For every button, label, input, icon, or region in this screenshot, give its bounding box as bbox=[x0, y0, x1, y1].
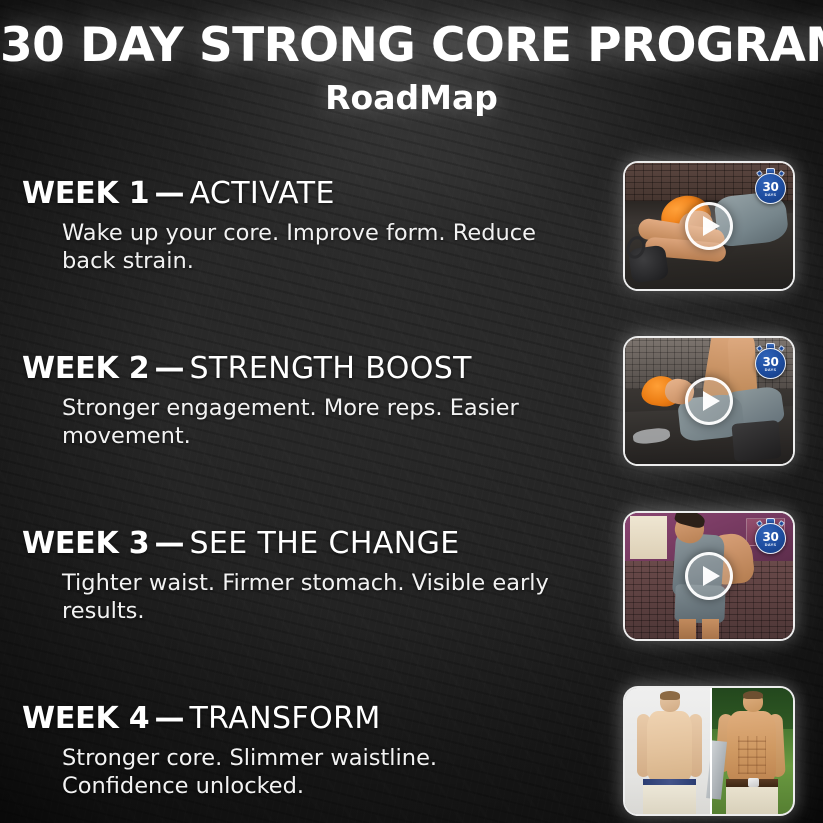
week-description: Tighter waist. Firmer stomach. Visible e… bbox=[22, 569, 552, 625]
badge-number: 30 bbox=[763, 531, 779, 543]
week-list: WEEK 1—ACTIVATE Wake up your core. Impro… bbox=[0, 139, 823, 823]
week-label: WEEK 4 bbox=[22, 701, 149, 736]
badge-number: 30 bbox=[763, 356, 779, 368]
week-video-thumbnail[interactable]: 30 DAYS bbox=[623, 336, 795, 466]
week-heading: WEEK 1—ACTIVATE bbox=[22, 177, 612, 210]
page-title: 30 DAY STRONG CORE PROGRAM bbox=[0, 22, 823, 71]
week-row: WEEK 4—TRANSFORM Stronger core. Slimmer … bbox=[0, 664, 823, 823]
week-dash: — bbox=[149, 526, 189, 561]
week-row: WEEK 1—ACTIVATE Wake up your core. Impro… bbox=[0, 139, 823, 314]
week-label: WEEK 2 bbox=[22, 351, 149, 386]
week-video-thumbnail[interactable]: 30 DAYS bbox=[623, 511, 795, 641]
week-transformation-thumbnail[interactable] bbox=[623, 686, 795, 816]
thirty-day-badge-icon: 30 DAYS bbox=[755, 519, 786, 550]
play-icon[interactable] bbox=[685, 377, 733, 425]
week-name: SEE THE CHANGE bbox=[189, 526, 459, 561]
week-dash: — bbox=[149, 176, 189, 211]
week-video-thumbnail[interactable]: 30 DAYS bbox=[623, 161, 795, 291]
play-icon[interactable] bbox=[685, 552, 733, 600]
thirty-day-badge-icon: 30 DAYS bbox=[755, 344, 786, 375]
week-row: WEEK 3—SEE THE CHANGE Tighter waist. Fir… bbox=[0, 489, 823, 664]
badge-sublabel: DAYS bbox=[765, 194, 777, 198]
play-triangle bbox=[703, 566, 720, 586]
week-name: TRANSFORM bbox=[189, 701, 380, 736]
week-label: WEEK 1 bbox=[22, 176, 149, 211]
week-description: Stronger core. Slimmer waistline. Confid… bbox=[22, 744, 552, 800]
week-text-block: WEEK 1—ACTIVATE Wake up your core. Impro… bbox=[0, 177, 612, 275]
week-name: STRENGTH BOOST bbox=[189, 351, 471, 386]
week-description: Stronger engagement. More reps. Easier m… bbox=[22, 394, 552, 450]
week-text-block: WEEK 2—STRENGTH BOOST Stronger engagemen… bbox=[0, 352, 612, 450]
poster-header: 30 DAY STRONG CORE PROGRAM RoadMap bbox=[0, 0, 823, 117]
week-heading: WEEK 4—TRANSFORM bbox=[22, 702, 612, 735]
play-triangle bbox=[703, 391, 720, 411]
week-text-block: WEEK 4—TRANSFORM Stronger core. Slimmer … bbox=[0, 702, 612, 800]
play-triangle bbox=[703, 216, 720, 236]
week-text-block: WEEK 3—SEE THE CHANGE Tighter waist. Fir… bbox=[0, 527, 612, 625]
thirty-day-badge-icon: 30 DAYS bbox=[755, 169, 786, 200]
play-icon[interactable] bbox=[685, 202, 733, 250]
week-dash: — bbox=[149, 701, 189, 736]
badge-sublabel: DAYS bbox=[765, 369, 777, 373]
week-heading: WEEK 2—STRENGTH BOOST bbox=[22, 352, 612, 385]
badge-number: 30 bbox=[763, 181, 779, 193]
week-name: ACTIVATE bbox=[189, 176, 334, 211]
page-subtitle: RoadMap bbox=[0, 78, 823, 117]
week-description: Wake up your core. Improve form. Reduce … bbox=[22, 219, 552, 275]
week-heading: WEEK 3—SEE THE CHANGE bbox=[22, 527, 612, 560]
week-row: WEEK 2—STRENGTH BOOST Stronger engagemen… bbox=[0, 314, 823, 489]
week-dash: — bbox=[149, 351, 189, 386]
thumbnail-artwork bbox=[625, 688, 793, 814]
week-label: WEEK 3 bbox=[22, 526, 149, 561]
badge-sublabel: DAYS bbox=[765, 544, 777, 548]
roadmap-poster: 30 DAY STRONG CORE PROGRAM RoadMap WEEK … bbox=[0, 0, 823, 823]
